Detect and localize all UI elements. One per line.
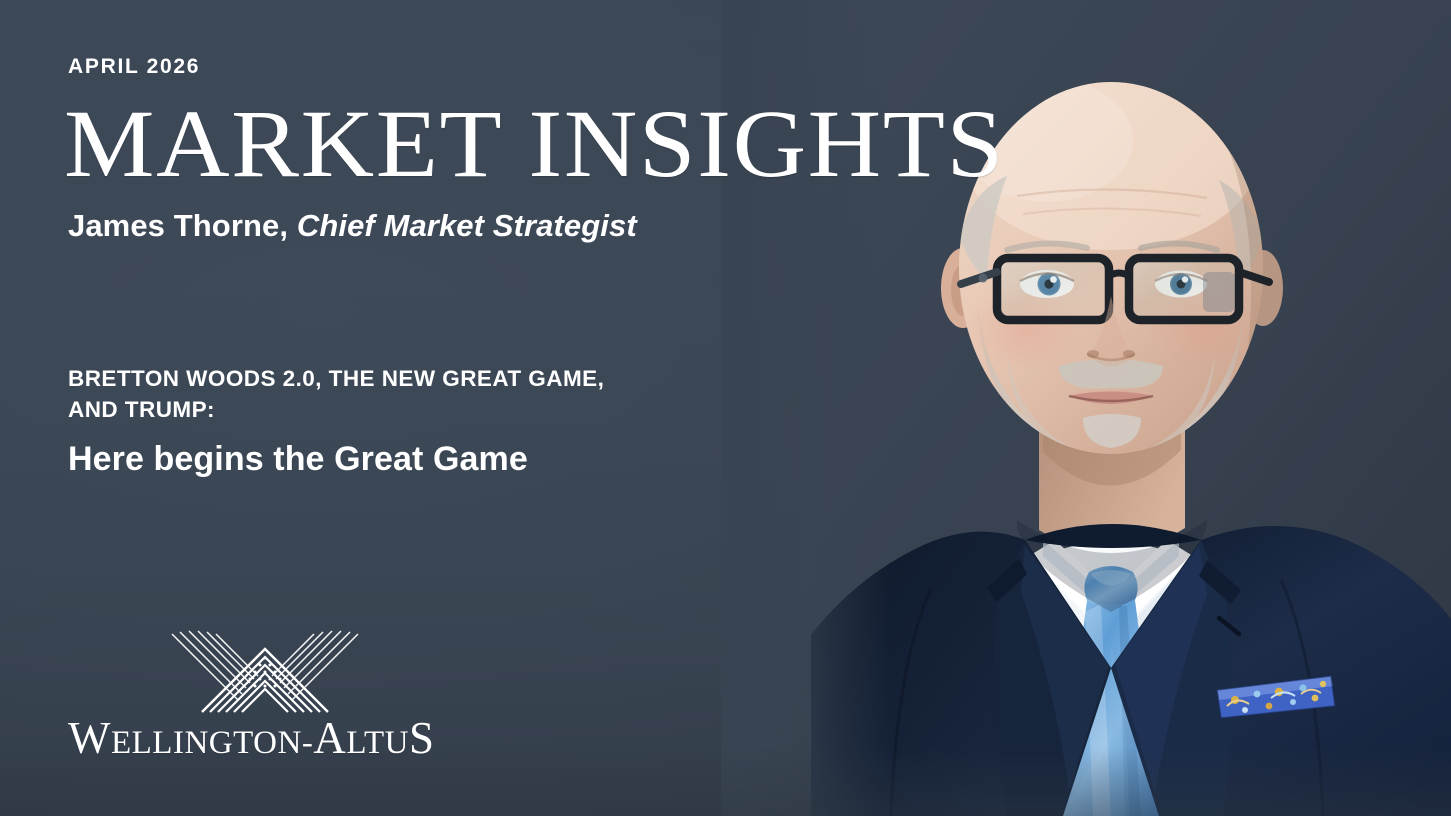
article-eyebrow-line-1: BRETTON WOODS 2.0, THE NEW GREAT GAME, bbox=[68, 366, 604, 391]
article-eyebrow-line-2: AND TRUMP: bbox=[68, 397, 215, 422]
logo-word-ellington: ELLINGTON bbox=[111, 725, 302, 761]
issue-date: APRIL 2026 bbox=[68, 55, 200, 79]
article-eyebrow: BRETTON WOODS 2.0, THE NEW GREAT GAME, A… bbox=[68, 364, 768, 425]
logo-word-w: W bbox=[68, 713, 111, 763]
logo-word-ltu: LTU bbox=[346, 725, 409, 761]
logo-word-a: A bbox=[313, 713, 346, 763]
logo-word-hyphen: - bbox=[302, 725, 314, 761]
byline-name: James Thorne, bbox=[68, 208, 288, 243]
logo-word-s: S bbox=[409, 713, 435, 763]
article-headline: Here begins the Great Game bbox=[68, 440, 528, 479]
brand-logo: WELLINGTON-ALTUS bbox=[68, 628, 468, 761]
byline-role: Chief Market Strategist bbox=[297, 208, 637, 243]
market-insights-cover: APRIL 2026 MARKET INSIGHTS James Thorne,… bbox=[0, 0, 1451, 816]
wellington-altus-w-chevron-mark bbox=[170, 628, 360, 714]
page-title: MARKET INSIGHTS bbox=[64, 96, 1005, 192]
byline: James Thorne, Chief Market Strategist bbox=[68, 208, 637, 244]
logo-wordmark: WELLINGTON-ALTUS bbox=[68, 716, 468, 761]
